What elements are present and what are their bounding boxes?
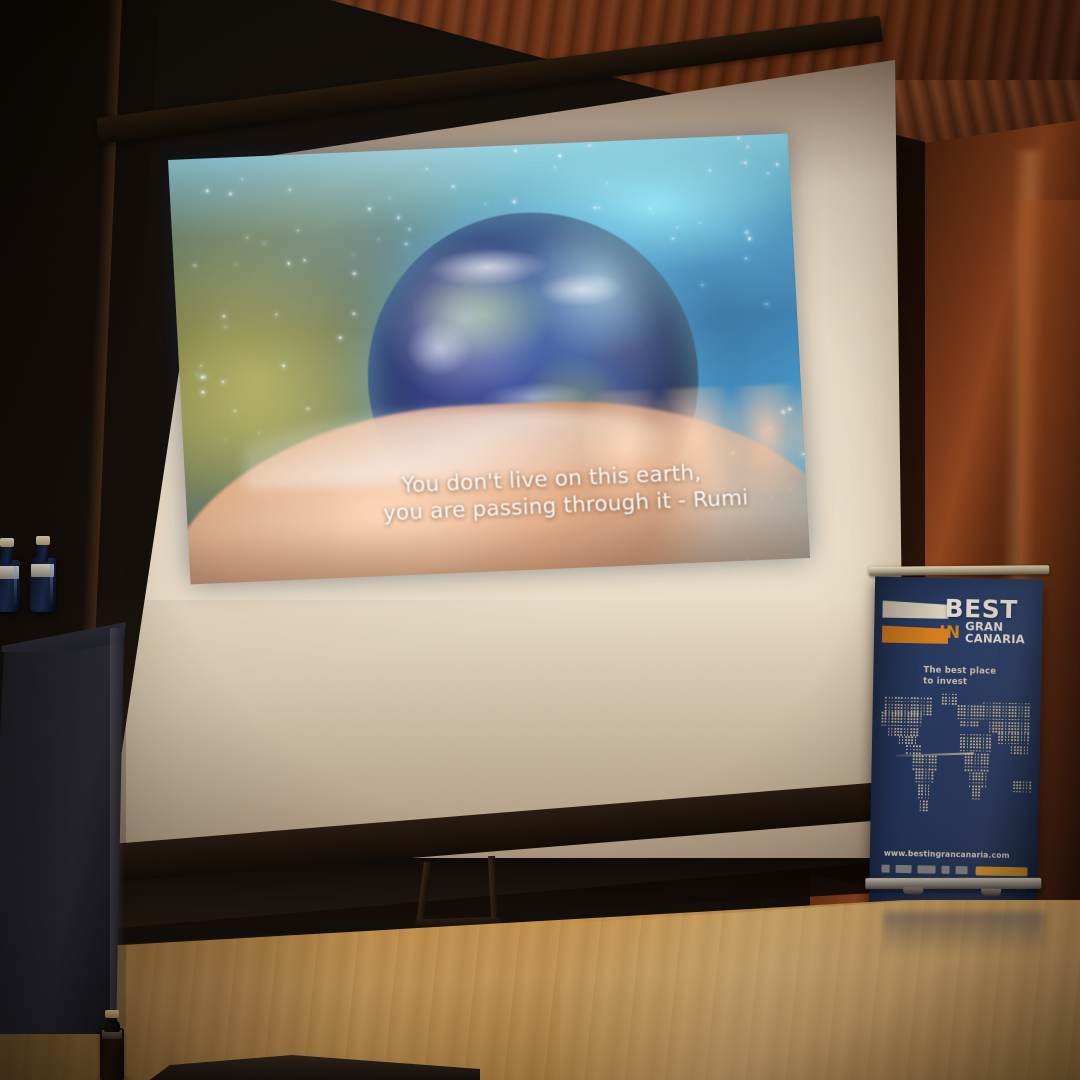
map-dot: [967, 743, 969, 745]
map-dot: [995, 728, 997, 730]
map-dot: [919, 749, 921, 751]
map-dot: [921, 797, 923, 799]
map-dot: [1027, 719, 1029, 721]
star: [233, 409, 237, 413]
map-dot: [925, 768, 927, 770]
map-dot: [1026, 753, 1028, 755]
map-dot: [1017, 740, 1019, 742]
star: [741, 161, 742, 162]
map-dot: [975, 798, 977, 800]
map-dot: [916, 752, 918, 754]
map-dot: [976, 744, 978, 746]
map-dot: [1012, 709, 1014, 711]
map-dot: [918, 784, 920, 786]
star: [246, 237, 248, 239]
map-dot: [1008, 712, 1010, 714]
map-dot: [1005, 706, 1007, 708]
star: [196, 374, 197, 375]
map-dot: [930, 714, 932, 716]
map-dot: [983, 741, 985, 743]
map-dot: [1011, 722, 1013, 724]
map-dot: [902, 742, 904, 744]
map-dot: [980, 708, 982, 710]
map-dot: [1026, 791, 1028, 793]
map-dot: [1008, 739, 1010, 741]
map-dot: [1011, 749, 1013, 751]
map-dot: [907, 704, 909, 706]
map-dot: [931, 778, 933, 780]
map-dot: [955, 700, 957, 702]
map-dot: [1002, 722, 1004, 724]
map-dot: [914, 704, 916, 706]
map-dot: [1023, 781, 1025, 783]
map-dot: [1001, 736, 1003, 738]
map-dot: [989, 728, 991, 730]
map-dot: [885, 718, 887, 720]
map-dot: [998, 733, 1000, 735]
star: [593, 206, 596, 209]
map-dot: [977, 718, 979, 720]
map-dot: [971, 763, 973, 765]
map-dot: [1008, 733, 1010, 735]
map-dot: [984, 763, 986, 765]
map-dot: [984, 753, 986, 755]
map-dot: [898, 707, 900, 709]
map-dot: [970, 718, 972, 720]
map-dot: [1009, 709, 1011, 711]
map-dot: [931, 768, 933, 770]
map-dot: [978, 792, 980, 794]
star: [225, 327, 226, 328]
map-dot: [923, 800, 925, 802]
map-dot: [1026, 785, 1028, 787]
map-dot: [996, 702, 998, 704]
map-dot: [987, 763, 989, 765]
star: [746, 145, 749, 148]
map-dot: [891, 700, 893, 702]
map-dot: [1008, 725, 1010, 727]
map-dot: [909, 749, 911, 751]
star: [236, 264, 237, 265]
map-dot: [895, 704, 897, 706]
star: [307, 408, 310, 411]
logo-bar-cream: [882, 601, 948, 619]
map-dot: [907, 731, 909, 733]
map-dot: [918, 797, 920, 799]
star: [352, 312, 355, 315]
map-dot: [992, 731, 994, 733]
map-dot: [992, 721, 994, 723]
map-dot: [1002, 728, 1004, 730]
map-dot: [1028, 713, 1030, 715]
map-dot: [965, 753, 967, 755]
map-dot: [916, 749, 918, 751]
map-dot: [917, 698, 919, 700]
map-dot: [974, 769, 976, 771]
star: [352, 272, 356, 276]
map-dot: [919, 768, 921, 770]
map-dot: [1029, 781, 1031, 783]
map-dot: [919, 762, 921, 764]
map-dot: [971, 759, 973, 761]
map-dot: [961, 724, 963, 726]
map-dot: [898, 721, 900, 723]
map-dot: [976, 750, 978, 752]
map-dot: [989, 725, 991, 727]
map-dot: [927, 701, 929, 703]
map-dot: [1004, 743, 1006, 745]
map-dot: [967, 708, 969, 710]
map-dot: [882, 711, 884, 713]
map-dot: [925, 787, 927, 789]
map-dot: [925, 759, 927, 761]
map-dot: [964, 711, 966, 713]
map-dot: [981, 753, 983, 755]
map-dot: [904, 731, 906, 733]
map-dot: [898, 712, 900, 714]
star: [767, 173, 769, 175]
map-dot: [976, 734, 978, 736]
map-dot: [1013, 787, 1015, 789]
map-dot: [999, 715, 1001, 717]
map-dot: [894, 731, 896, 733]
map-dot: [970, 721, 972, 723]
map-dot: [1012, 703, 1014, 705]
map-dot: [1021, 703, 1023, 705]
map-dot: [928, 771, 930, 773]
map-dot: [1017, 736, 1019, 738]
map-dot: [913, 728, 915, 730]
map-dot: [961, 721, 963, 723]
map-dot: [911, 712, 913, 714]
map-dot: [1009, 703, 1011, 705]
map-dot: [910, 745, 912, 747]
map-dot: [915, 771, 917, 773]
map-dot: [977, 724, 979, 726]
map-dot: [1008, 719, 1010, 721]
map-dot: [996, 712, 998, 714]
map-dot: [1024, 712, 1026, 714]
map-dot: [917, 707, 919, 709]
map-dot: [1025, 703, 1027, 705]
map-dot: [928, 759, 930, 761]
star: [397, 217, 400, 220]
map-dot: [996, 706, 998, 708]
star: [408, 227, 411, 230]
map-dot: [904, 718, 906, 720]
map-dot: [1011, 746, 1013, 748]
map-dot: [930, 711, 932, 713]
map-dot: [917, 715, 919, 717]
map-dot: [1024, 725, 1026, 727]
map-dot: [923, 810, 925, 812]
map-dot: [987, 757, 989, 759]
map-dot: [1018, 728, 1020, 730]
map-dot: [928, 765, 930, 767]
star: [426, 168, 428, 170]
map-dot: [931, 781, 933, 783]
map-dot: [1002, 706, 1004, 708]
map-dot: [967, 740, 969, 742]
map-dot: [955, 703, 957, 705]
map-dot: [999, 722, 1001, 724]
map-dot: [919, 755, 921, 757]
map-dot: [975, 792, 977, 794]
map-dot: [888, 703, 890, 705]
map-dot: [989, 705, 991, 707]
map-dot: [919, 806, 921, 808]
map-dot: [1009, 706, 1011, 708]
map-dot: [908, 742, 910, 744]
map-dot: [912, 758, 914, 760]
map-dot: [969, 779, 971, 781]
map-dot: [908, 697, 910, 699]
map-dot: [888, 700, 890, 702]
map-dot: [982, 773, 984, 775]
map-dot: [901, 701, 903, 703]
map-dot: [911, 698, 913, 700]
map-dot: [1021, 716, 1023, 718]
tagline-line-1: The best place: [923, 665, 996, 676]
map-dot: [927, 698, 929, 700]
map-dot: [882, 721, 884, 723]
map-dot: [1002, 725, 1004, 727]
podium-bottle-1-cap: [0, 538, 14, 547]
map-dot: [915, 781, 917, 783]
map-dot: [1002, 718, 1004, 720]
map-dot: [901, 715, 903, 717]
map-dot: [989, 715, 991, 717]
map-dot: [918, 787, 920, 789]
map-dot: [1023, 784, 1025, 786]
map-dot: [1005, 736, 1007, 738]
map-dot: [898, 715, 900, 717]
map-dot: [955, 697, 957, 699]
star: [264, 243, 265, 244]
map-dot: [995, 731, 997, 733]
map-dot: [989, 747, 991, 749]
map-dot: [913, 746, 915, 748]
map-dot: [978, 779, 980, 781]
map-dot: [964, 718, 966, 720]
map-dot: [961, 708, 963, 710]
map-dot: [984, 766, 986, 768]
map-dot: [942, 693, 944, 695]
map-dot: [911, 701, 913, 703]
map-dot: [917, 725, 919, 727]
map-dot: [921, 787, 923, 789]
map-dot: [907, 712, 909, 714]
map-dot: [961, 705, 963, 707]
star: [702, 284, 704, 286]
map-dot: [992, 725, 994, 727]
star: [202, 391, 205, 394]
map-dot: [968, 753, 970, 755]
map-dot: [916, 746, 918, 748]
map-dot: [901, 721, 903, 723]
map-dot: [974, 715, 976, 717]
map-dot: [919, 765, 921, 767]
map-dot: [915, 739, 917, 741]
map-dot: [1028, 706, 1030, 708]
map-dot: [882, 724, 884, 726]
map-dot: [1027, 733, 1029, 735]
map-dot: [923, 704, 925, 706]
map-dot: [920, 712, 922, 714]
star: [339, 336, 342, 339]
map-dot: [894, 728, 896, 730]
map-dot: [912, 762, 914, 764]
star: [558, 154, 561, 157]
map-dot: [901, 718, 903, 720]
map-dot: [986, 747, 988, 749]
map-dot: [977, 715, 979, 717]
map-dot: [925, 781, 927, 783]
map-dot: [1005, 725, 1007, 727]
map-dot: [945, 703, 947, 705]
map-dot: [1011, 725, 1013, 727]
map-dot: [920, 698, 922, 700]
projected-slide: You don't live on this earth, you are pa…: [168, 133, 810, 584]
map-dot: [972, 776, 974, 778]
map-dot: [917, 718, 919, 720]
map-dot: [888, 697, 890, 699]
map-dot: [982, 782, 984, 784]
map-dot: [904, 712, 906, 714]
map-dot: [905, 739, 907, 741]
map-dot: [1029, 785, 1031, 787]
map-dot: [979, 747, 981, 749]
map-dot: [985, 776, 987, 778]
map-dot: [930, 704, 932, 706]
map-dot: [920, 722, 922, 724]
map-dot: [968, 763, 970, 765]
star: [282, 364, 285, 367]
map-dot: [987, 769, 989, 771]
map-dot: [963, 740, 965, 742]
map-dot: [1005, 722, 1007, 724]
star: [353, 254, 354, 255]
map-dot: [975, 782, 977, 784]
map-dot: [1011, 743, 1013, 745]
map-dot: [1014, 736, 1016, 738]
map-dot: [989, 721, 991, 723]
map-dot: [975, 772, 977, 774]
map-dot: [985, 782, 987, 784]
star: [288, 262, 290, 264]
star: [378, 239, 379, 240]
map-dot: [968, 766, 970, 768]
map-dot: [923, 807, 925, 809]
sponsor-logo: [941, 866, 949, 874]
map-dot: [922, 755, 924, 757]
map-dot: [985, 773, 987, 775]
map-dot: [901, 728, 903, 730]
map-dot: [1023, 749, 1025, 751]
map-dot: [981, 760, 983, 762]
map-dot: [980, 712, 982, 714]
map-dot: [972, 788, 974, 790]
map-dot: [952, 694, 954, 696]
map-dot: [1021, 725, 1023, 727]
map-dot: [960, 746, 962, 748]
map-dot: [901, 707, 903, 709]
map-dot: [989, 744, 991, 746]
map-dot: [885, 700, 887, 702]
map-dot: [891, 721, 893, 723]
map-dot: [979, 744, 981, 746]
map-dot: [921, 784, 923, 786]
map-dot: [885, 703, 887, 705]
map-dot: [977, 766, 979, 768]
map-dot: [955, 694, 957, 696]
map-dot: [998, 728, 1000, 730]
map-dot: [1017, 746, 1019, 748]
map-dot: [980, 718, 982, 720]
map-dot: [1016, 781, 1018, 783]
map-dot: [904, 707, 906, 709]
map-dot: [1005, 719, 1007, 721]
map-dot: [983, 715, 985, 717]
map-dot: [986, 709, 988, 711]
map-dot: [920, 707, 922, 709]
logo-text-canaria: CANARIA: [965, 632, 1025, 646]
map-dot: [922, 759, 924, 761]
star: [748, 237, 751, 240]
map-dot: [986, 734, 988, 736]
map-dot: [965, 756, 967, 758]
map-dot: [926, 800, 928, 802]
map-dot: [925, 771, 927, 773]
map-dot: [1021, 706, 1023, 708]
map-dot: [970, 747, 972, 749]
map-dot: [984, 760, 986, 762]
map-dot: [974, 708, 976, 710]
star: [193, 264, 196, 267]
map-dot: [1008, 715, 1010, 717]
map-dot: [1015, 712, 1017, 714]
map-dot: [915, 768, 917, 770]
map-dot: [960, 743, 962, 745]
map-dot: [894, 734, 896, 736]
map-dot: [922, 768, 924, 770]
map-dot: [904, 715, 906, 717]
map-dot: [1015, 706, 1017, 708]
map-dot: [970, 743, 972, 745]
map-dot: [986, 715, 988, 717]
map-dot: [1013, 784, 1015, 786]
map-dot: [1020, 749, 1022, 751]
map-dot: [978, 782, 980, 784]
map-dot: [885, 724, 887, 726]
star: [672, 238, 674, 240]
map-dot: [989, 702, 991, 704]
map-dot: [882, 715, 884, 717]
map-dot: [972, 772, 974, 774]
map-dot: [1020, 781, 1022, 783]
map-dot: [982, 747, 984, 749]
map-dot: [932, 759, 934, 761]
star: [699, 222, 701, 224]
map-dot: [1017, 752, 1019, 754]
map-dot: [975, 788, 977, 790]
map-dot: [1027, 722, 1029, 724]
star: [484, 203, 485, 204]
star: [649, 207, 651, 209]
podium-bottle-1-highlight: [14, 566, 17, 606]
map-dot: [935, 762, 937, 764]
star: [737, 137, 739, 139]
